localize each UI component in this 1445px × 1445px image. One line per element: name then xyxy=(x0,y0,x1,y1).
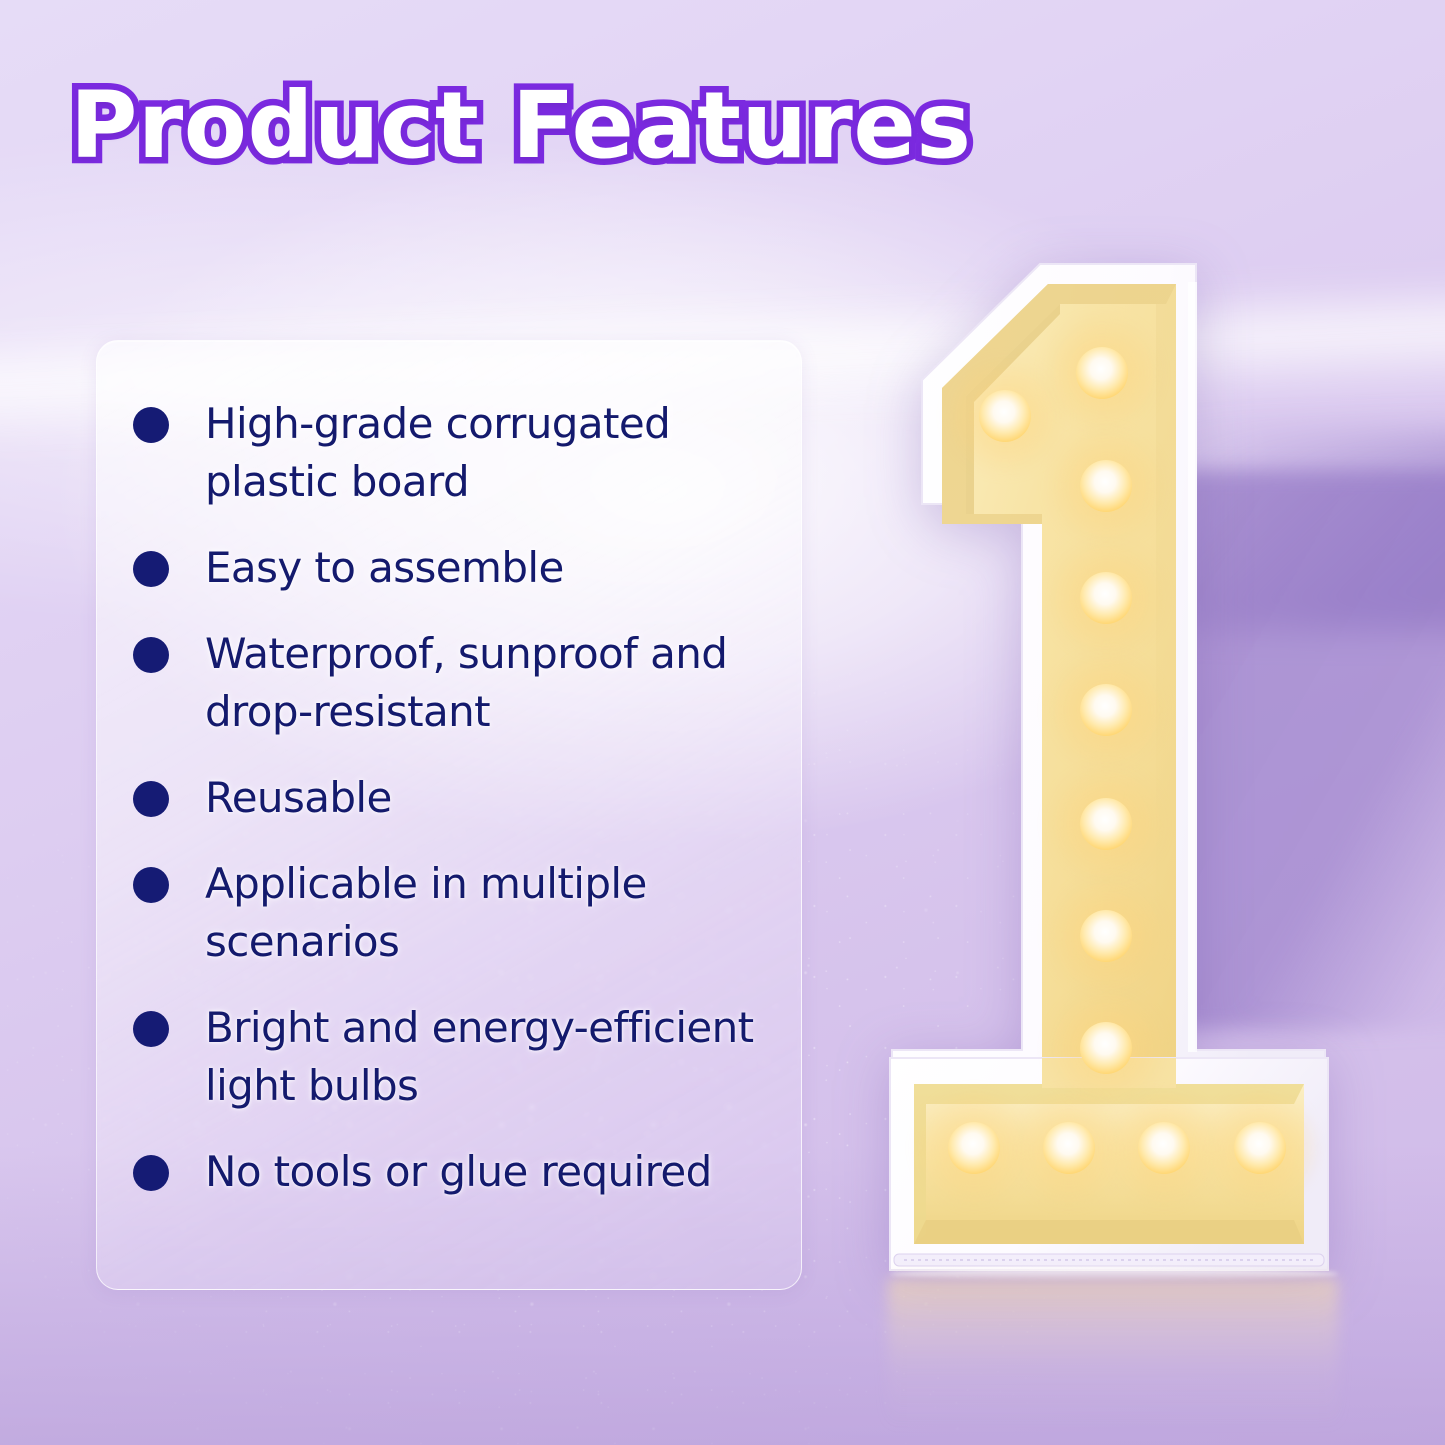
base-face-floor xyxy=(914,1220,1304,1244)
bullet-dot-icon xyxy=(133,867,169,903)
feature-list: High-grade corrugated plastic boardEasy … xyxy=(131,395,767,1201)
bullet-dot-icon xyxy=(133,1011,169,1047)
bullet-dot-icon xyxy=(133,407,169,443)
bullet-dot-icon xyxy=(133,781,169,817)
feature-list-item: Bright and energy-efficient light bulbs xyxy=(131,999,767,1115)
page-title-container: Product Features xyxy=(70,74,1070,184)
feature-item-label: Waterproof, sunproof and drop-resistant xyxy=(205,625,727,741)
product-feature-slide: Product Features High-grade corrugated p… xyxy=(0,0,1445,1445)
feature-list-item: Applicable in multiple scenarios xyxy=(131,855,767,971)
feature-list-item: Reusable xyxy=(131,769,767,827)
feature-item-label: High-grade corrugated plastic board xyxy=(205,395,670,511)
numeral-face-upper xyxy=(942,284,1176,1070)
feature-item-label: Bright and energy-efficient light bulbs xyxy=(205,999,754,1115)
feature-list-item: Easy to assemble xyxy=(131,539,767,597)
bullet-dot-icon xyxy=(133,551,169,587)
product-floor-reflection xyxy=(888,1278,1338,1428)
feature-list-item: No tools or glue required xyxy=(131,1143,767,1201)
page-title: Product Features xyxy=(70,74,1070,178)
marquee-number-one-product xyxy=(870,258,1350,1278)
feature-item-label: Easy to assemble xyxy=(205,539,564,597)
product-features-card: High-grade corrugated plastic boardEasy … xyxy=(96,340,802,1290)
feature-item-label: Applicable in multiple scenarios xyxy=(205,855,647,971)
feature-list-item: High-grade corrugated plastic board xyxy=(131,395,767,511)
stem-face-over-base xyxy=(1042,1058,1176,1088)
bullet-dot-icon xyxy=(133,637,169,673)
feature-item-label: Reusable xyxy=(205,769,392,827)
feature-item-label: No tools or glue required xyxy=(205,1143,712,1201)
bullet-dot-icon xyxy=(133,1155,169,1191)
right-edge-highlight xyxy=(1188,282,1197,1052)
feature-list-item: Waterproof, sunproof and drop-resistant xyxy=(131,625,767,741)
